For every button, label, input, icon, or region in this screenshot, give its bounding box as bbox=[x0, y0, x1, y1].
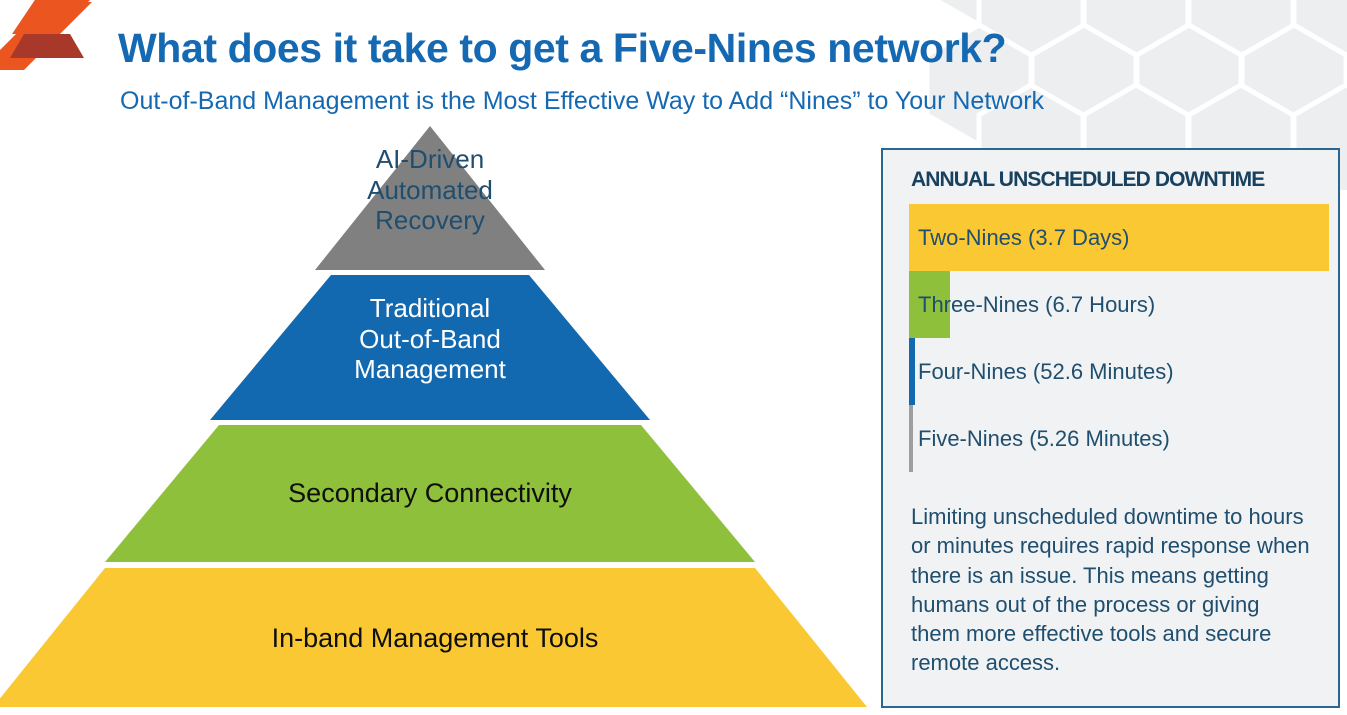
chart-bar-row: Three-Nines (6.7 Hours) bbox=[909, 271, 1329, 338]
chart-bar-fill-four-nines bbox=[909, 338, 915, 405]
maturity-pyramid-diagram: AI-Driven Automated Recovery Traditional… bbox=[0, 118, 880, 715]
pyramid-tier-shape-blue bbox=[210, 275, 650, 420]
orange-diagonal-stripe-icon bbox=[0, 0, 130, 88]
chart-bar-row: Four-Nines (52.6 Minutes) bbox=[909, 338, 1329, 405]
chart-bar-row: Two-Nines (3.7 Days) bbox=[909, 204, 1329, 271]
pyramid-tier-shape-apex bbox=[315, 126, 545, 270]
chart-bar-label-four-nines: Four-Nines (52.6 Minutes) bbox=[918, 359, 1174, 385]
pyramid-tier-shape-yellow bbox=[0, 568, 867, 707]
chart-bar-fill-five-nines bbox=[909, 405, 913, 472]
panel-body-text: Limiting unscheduled downtime to hours o… bbox=[911, 502, 1311, 678]
downtime-bar-chart: Two-Nines (3.7 Days) Three-Nines (6.7 Ho… bbox=[909, 204, 1329, 494]
page-title: What does it take to get a Five-Nines ne… bbox=[118, 27, 1238, 70]
panel-title: ANNUAL UNSCHEDULED DOWNTIME bbox=[911, 168, 1264, 192]
page-subtitle: Out-of-Band Management is the Most Effec… bbox=[120, 88, 1270, 116]
downtime-info-panel: ANNUAL UNSCHEDULED DOWNTIME Two-Nines (3… bbox=[881, 148, 1340, 708]
chart-bar-label-five-nines: Five-Nines (5.26 Minutes) bbox=[918, 426, 1170, 452]
chart-bar-row: Five-Nines (5.26 Minutes) bbox=[909, 405, 1329, 472]
pyramid-tier-shape-green bbox=[105, 425, 755, 562]
chart-bar-label-three-nines: Three-Nines (6.7 Hours) bbox=[918, 292, 1155, 318]
chart-bar-label-two-nines: Two-Nines (3.7 Days) bbox=[918, 225, 1130, 251]
